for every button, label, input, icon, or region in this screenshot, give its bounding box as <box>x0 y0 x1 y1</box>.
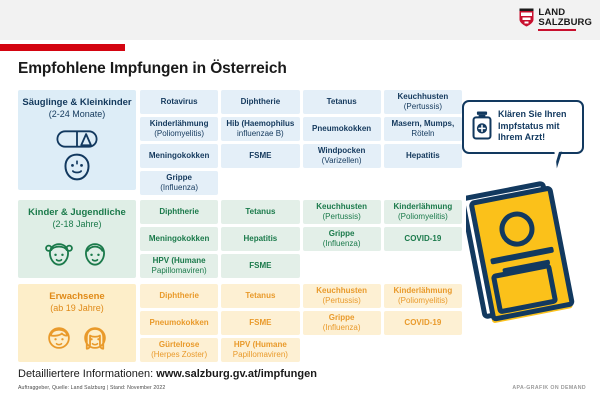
section-adults: Erwachsene (ab 19 Jahre) <box>18 284 462 362</box>
pill-main: Gürtelrose <box>159 340 199 349</box>
vaccine-pill[interactable]: Hepatitis <box>384 144 462 168</box>
baby-face-icon <box>63 153 91 181</box>
vaccine-grid-infants: Rotavirus Diphtherie Tetanus Keuchhusten… <box>140 90 462 190</box>
vaccine-pill-empty <box>303 338 381 362</box>
pill-sub: (Pertussis) <box>398 102 449 112</box>
pill-main: COVID-19 <box>404 318 441 327</box>
pill-main: Keuchhusten <box>398 92 449 101</box>
pill-sub: (Herpes Zoster) <box>151 350 207 360</box>
vaccine-pill[interactable]: Meningokokken <box>140 144 218 168</box>
pill-sub: Papillomaviren) <box>152 266 207 276</box>
pill-main: Hepatitis <box>243 234 277 243</box>
boy-face-icon <box>80 240 110 268</box>
vaccine-pill-empty <box>221 171 299 195</box>
pill-sub: (Poliomyelitis) <box>394 296 453 306</box>
vaccine-pill[interactable]: Diphtherie <box>140 284 218 308</box>
pill-main: HPV (Humane <box>234 340 287 349</box>
pill-main: Kinderlähmung <box>394 202 453 211</box>
vaccine-pill[interactable]: Pneumokokken <box>140 311 218 335</box>
logo-line-2: SALZBURG <box>538 18 592 28</box>
vaccine-pill[interactable]: FSME <box>221 254 299 278</box>
vaccine-pill-empty <box>303 254 381 278</box>
category-subtitle: (ab 19 Jahre) <box>50 303 104 315</box>
pill-sub: (Influenza) <box>323 239 361 249</box>
infographic-canvas: LAND SALZBURG Empfohlene Impfungen in Ös… <box>0 0 600 400</box>
pill-sub: (Pertussis) <box>316 296 367 306</box>
pill-main: Grippe <box>329 313 355 322</box>
vaccination-passport-icon <box>466 180 586 350</box>
category-title: Kinder & Jugendliche <box>28 207 126 219</box>
category-header-children: Kinder & Jugendliche (2-18 Jahre) <box>18 200 136 278</box>
pill-main: FSME <box>249 318 271 327</box>
vaccine-pill[interactable]: Kinderlähmung(Poliomyelitis) <box>384 284 462 308</box>
pill-main: Hib (Haemophilus <box>226 119 294 128</box>
vaccine-pill[interactable]: Grippe(Influenza) <box>140 171 218 195</box>
category-icons <box>18 231 136 278</box>
pill-main: Kinderlähmung <box>394 286 453 295</box>
callout-line-1: Klären Sie Ihren <box>498 109 567 121</box>
callout-text: Klären Sie Ihren Impfstatus mit Ihrem Ar… <box>498 109 567 144</box>
footer-info-label: Detailliertere Informationen: <box>18 368 156 380</box>
pill-sub: (Influenza) <box>160 183 198 193</box>
section-children: Kinder & Jugendliche (2-18 Jahre) <box>18 200 462 278</box>
pill-main: Grippe <box>166 173 192 182</box>
vaccine-pill[interactable]: Hib (Haemophilusinfluenzae B) <box>221 117 299 141</box>
vaccine-pill[interactable]: COVID-19 <box>384 311 462 335</box>
pill-main: FSME <box>249 151 271 160</box>
vaccine-pill-empty <box>384 338 462 362</box>
salzburg-coat-of-arms-icon <box>519 8 534 27</box>
pill-main: Rotavirus <box>161 97 198 106</box>
category-header-infants: Säuglinge & Kleinkinder (2-24 Monate) <box>18 90 136 190</box>
vaccine-pill-empty <box>384 254 462 278</box>
pill-main: Kinderlähmung <box>150 119 209 128</box>
section-infants: Säuglinge & Kleinkinder (2-24 Monate) Ro <box>18 90 462 190</box>
pill-main: Diphtherie <box>159 207 199 216</box>
vaccine-pill[interactable]: Tetanus <box>221 200 299 224</box>
pill-sub: influenzae B) <box>226 129 294 139</box>
logo-underline <box>538 29 576 31</box>
pill-main: Meningokokken <box>149 234 209 243</box>
vaccine-pill[interactable]: HPV (HumanePapillomaviren) <box>221 338 299 362</box>
category-subtitle: (2-18 Jahre) <box>52 219 101 231</box>
vaccine-pill[interactable]: Keuchhusten(Pertussis) <box>303 284 381 308</box>
vaccine-vial-icon <box>471 110 493 140</box>
category-title: Erwachsene <box>49 291 104 303</box>
footer-source: Auftraggeber, Quelle: Land Salzburg | St… <box>18 385 165 391</box>
vaccine-pill[interactable]: Rotavirus <box>140 90 218 114</box>
pill-main: Keuchhusten <box>316 286 367 295</box>
vaccine-pill[interactable]: Tetanus <box>221 284 299 308</box>
pill-sub: (Varizellen) <box>318 156 365 166</box>
vaccine-pill[interactable]: HPV (HumanePapillomaviren) <box>140 254 218 278</box>
pill-main: HPV (Humane <box>153 256 206 265</box>
vaccine-pill[interactable]: Hepatitis <box>221 227 299 251</box>
pill-sub: (Pertussis) <box>316 212 367 222</box>
pill-main: Tetanus <box>245 207 275 216</box>
pill-sub: (Poliomyelitis) <box>150 129 209 139</box>
vaccine-pill[interactable]: Gürtelrose(Herpes Zoster) <box>140 338 218 362</box>
accent-bar <box>0 44 125 51</box>
pill-main: COVID-19 <box>404 234 441 243</box>
pill-main: Keuchhusten <box>316 202 367 211</box>
vaccine-pill-empty <box>303 171 381 195</box>
vaccine-pill[interactable]: Kinderlähmung(Poliomyelitis) <box>384 200 462 224</box>
pill-main: Grippe <box>329 229 355 238</box>
pill-sub: Papillomaviren) <box>233 350 288 360</box>
pill-main: Meningokokken <box>149 151 209 160</box>
category-title: Säuglinge & Kleinkinder <box>22 97 131 109</box>
pill-main: Pneumokokken <box>150 318 209 327</box>
pill-main: Diphtherie <box>241 97 281 106</box>
pill-main: Pneumokokken <box>312 124 371 133</box>
vaccine-pill[interactable]: COVID-19 <box>384 227 462 251</box>
category-icons <box>18 121 136 190</box>
man-face-icon <box>44 324 74 352</box>
pill-main: FSME <box>249 261 271 270</box>
category-subtitle: (2-24 Monate) <box>49 109 106 121</box>
pill-main: Hepatitis <box>406 151 440 160</box>
pill-main: Masern, Mumps, <box>392 119 455 128</box>
vaccine-pill[interactable]: FSME <box>221 144 299 168</box>
pill-sub: Röteln <box>392 129 455 139</box>
callout-bubble: Klären Sie Ihren Impfstatus mit Ihrem Ar… <box>462 100 584 154</box>
page-title: Empfohlene Impfungen in Österreich <box>18 60 287 78</box>
vaccine-pill[interactable]: Diphtherie <box>221 90 299 114</box>
woman-face-icon <box>80 324 110 352</box>
girl-face-icon <box>44 240 74 268</box>
vaccine-pill[interactable]: Pneumokokken <box>303 117 381 141</box>
vaccine-pill[interactable]: Kinderlähmung(Poliomyelitis) <box>140 117 218 141</box>
vaccine-pill[interactable]: FSME <box>221 311 299 335</box>
vaccine-pill-empty <box>384 171 462 195</box>
vaccine-pill[interactable]: Grippe(Influenza) <box>303 311 381 335</box>
footer-info-url[interactable]: www.salzburg.gv.at/impfungen <box>156 368 317 380</box>
capsule-pill-icon <box>56 129 98 149</box>
footer-credit: APA-GRAFIK ON DEMAND <box>512 385 586 391</box>
vaccine-pill[interactable]: Tetanus <box>303 90 381 114</box>
pill-main: Windpocken <box>318 146 365 155</box>
vaccine-pill[interactable]: Diphtherie <box>140 200 218 224</box>
pill-main: Tetanus <box>327 97 357 106</box>
footer-info: Detailliertere Informationen: www.salzbu… <box>18 368 317 380</box>
callout-line-2: Impfstatus mit <box>498 121 567 133</box>
callout-line-3: Ihrem Arzt! <box>498 132 567 144</box>
vaccine-pill[interactable]: Keuchhusten(Pertussis) <box>303 200 381 224</box>
pill-main: Tetanus <box>245 291 275 300</box>
land-salzburg-logo: LAND SALZBURG <box>519 8 592 31</box>
vaccine-grid-adults: Diphtherie Tetanus Keuchhusten(Pertussis… <box>140 284 462 362</box>
vaccine-pill[interactable]: Grippe(Influenza) <box>303 227 381 251</box>
vaccine-pill[interactable]: Masern, Mumps,Röteln <box>384 117 462 141</box>
vaccine-grid-children: Diphtherie Tetanus Keuchhusten(Pertussis… <box>140 200 462 278</box>
vaccine-pill[interactable]: Keuchhusten(Pertussis) <box>384 90 462 114</box>
pill-sub: (Influenza) <box>323 323 361 333</box>
category-icons <box>18 315 136 362</box>
pill-main: Diphtherie <box>159 291 199 300</box>
pill-sub: (Poliomyelitis) <box>394 212 453 222</box>
vaccine-pill[interactable]: Meningokokken <box>140 227 218 251</box>
top-bar <box>0 0 600 40</box>
vaccine-pill[interactable]: Windpocken(Varizellen) <box>303 144 381 168</box>
category-header-adults: Erwachsene (ab 19 Jahre) <box>18 284 136 362</box>
